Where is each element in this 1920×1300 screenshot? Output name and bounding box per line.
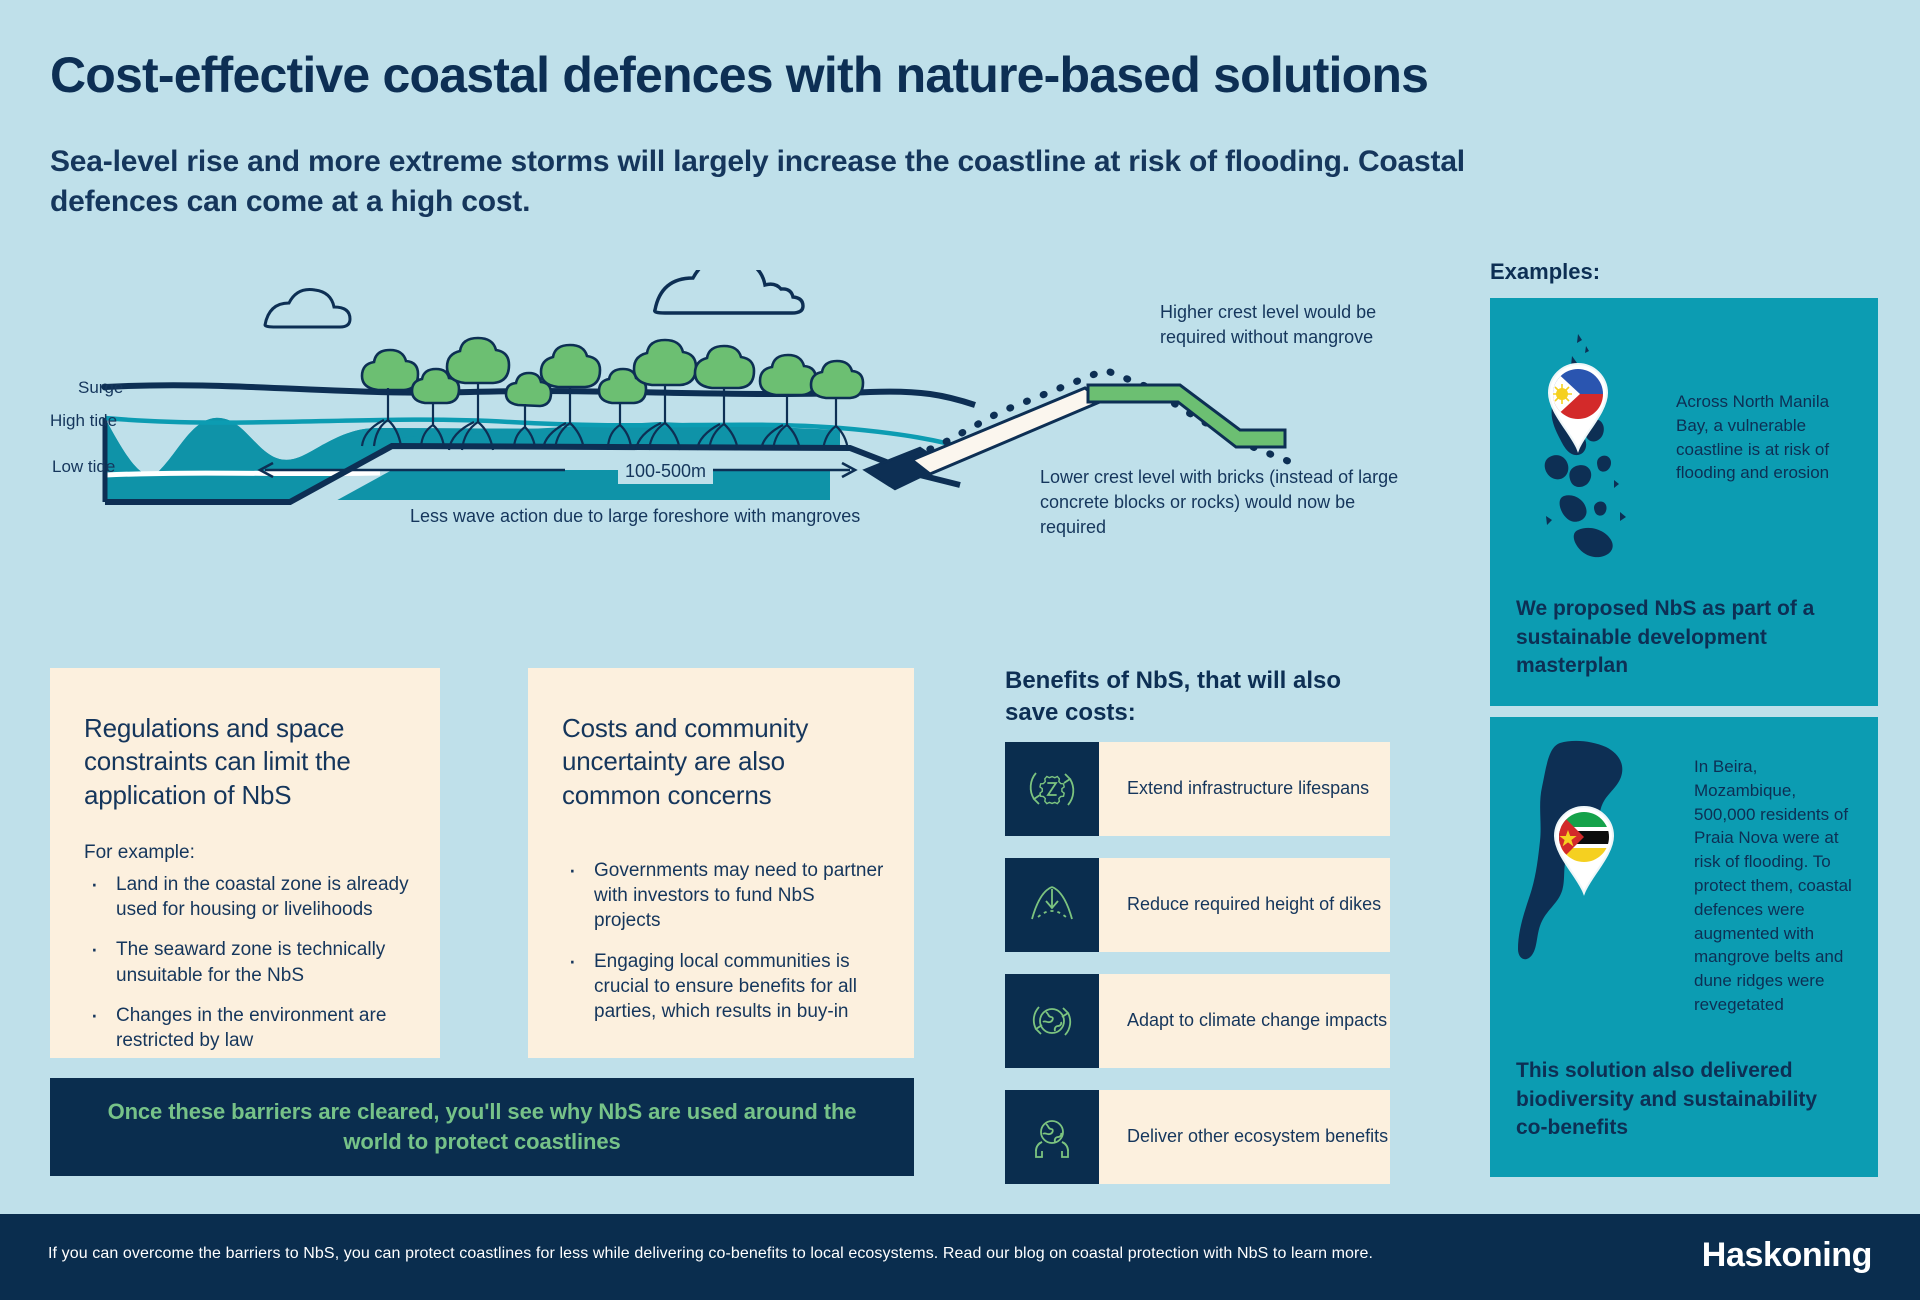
- barriers-banner-text: Once these barriers are cleared, you'll …: [50, 1097, 914, 1158]
- benefit-row: Reduce required height of dikes: [1005, 858, 1390, 952]
- example-card-mozambique: In Beira, Mozambique, 500,000 residents …: [1490, 717, 1878, 1177]
- footer-text: If you can overcome the barriers to NbS,…: [48, 1245, 1373, 1263]
- cloud-icon: [265, 290, 350, 327]
- label-low-tide: Low tide: [52, 456, 115, 478]
- example-card-philippines: Across North Manila Bay, a vulnerable co…: [1490, 298, 1878, 706]
- label-high-tide: High tide: [50, 410, 117, 432]
- benefit-row: Extend infrastructure lifespans: [1005, 742, 1390, 836]
- philippines-flag-pin: [1542, 360, 1614, 456]
- label-surge: Surge: [78, 377, 123, 399]
- benefit-row: Adapt to climate change impacts: [1005, 974, 1390, 1068]
- gear-recycle-icon: [1005, 742, 1099, 836]
- card-regulations: Regulations and space constraints can li…: [50, 668, 440, 1058]
- list-item: Changes in the environment are restricte…: [90, 1003, 410, 1054]
- benefit-label: Reduce required height of dikes: [1099, 858, 1390, 952]
- example-caption-philippines: We proposed NbS as part of a sustainable…: [1516, 595, 1846, 681]
- coastal-cross-section-diagram: Surge High tide Low tide 100-500m Less w…: [40, 270, 1470, 630]
- cloud-icon: [655, 270, 803, 313]
- card-regulations-subhead: For example:: [50, 812, 440, 864]
- benefit-label: Adapt to climate change impacts: [1099, 974, 1390, 1068]
- card-costs: Costs and community uncertainty are also…: [528, 668, 914, 1058]
- mozambique-flag-pin: [1548, 803, 1620, 899]
- label-higher-crest: Higher crest level would be required wit…: [1160, 300, 1410, 350]
- infographic-page: Cost-effective coastal defences with nat…: [0, 0, 1920, 1300]
- card-regulations-bullets: Land in the coastal zone is already used…: [50, 864, 440, 1054]
- list-item: Land in the coastal zone is already used…: [90, 872, 410, 923]
- example-text-mozambique: In Beira, Mozambique, 500,000 residents …: [1694, 755, 1862, 1017]
- list-item: Governments may need to partner with inv…: [568, 858, 884, 934]
- globe-recycle-icon: [1005, 974, 1099, 1068]
- haskoning-logo: Haskoning: [1702, 1236, 1872, 1275]
- page-subtitle: Sea-level rise and more extreme storms w…: [50, 142, 1470, 221]
- benefit-label: Extend infrastructure lifespans: [1099, 742, 1390, 836]
- card-regulations-title: Regulations and space constraints can li…: [50, 668, 440, 812]
- example-caption-mozambique: This solution also delivered biodiversit…: [1516, 1057, 1846, 1143]
- page-title: Cost-effective coastal defences with nat…: [50, 46, 1428, 104]
- barriers-banner: Once these barriers are cleared, you'll …: [50, 1078, 914, 1176]
- example-text-philippines: Across North Manila Bay, a vulnerable co…: [1676, 390, 1862, 485]
- benefits-heading: Benefits of NbS, that will also save cos…: [1005, 665, 1375, 728]
- card-costs-title: Costs and community uncertainty are also…: [528, 668, 914, 812]
- globe-hands-icon: [1005, 1090, 1099, 1184]
- examples-heading: Examples:: [1490, 259, 1600, 285]
- label-foreshore: Less wave action due to large foreshore …: [410, 505, 860, 529]
- benefit-label: Deliver other ecosystem benefits: [1099, 1090, 1390, 1184]
- label-distance: 100-500m: [618, 460, 713, 484]
- list-item: Engaging local communities is crucial to…: [568, 949, 884, 1025]
- down-arrow-dike-icon: [1005, 858, 1099, 952]
- label-lower-crest: Lower crest level with bricks (instead o…: [1040, 465, 1405, 539]
- list-item: The seaward zone is technically unsuitab…: [90, 937, 410, 988]
- card-costs-bullets: Governments may need to partner with inv…: [528, 812, 914, 1025]
- benefit-row: Deliver other ecosystem benefits: [1005, 1090, 1390, 1184]
- footer-bar: If you can overcome the barriers to NbS,…: [0, 1214, 1920, 1300]
